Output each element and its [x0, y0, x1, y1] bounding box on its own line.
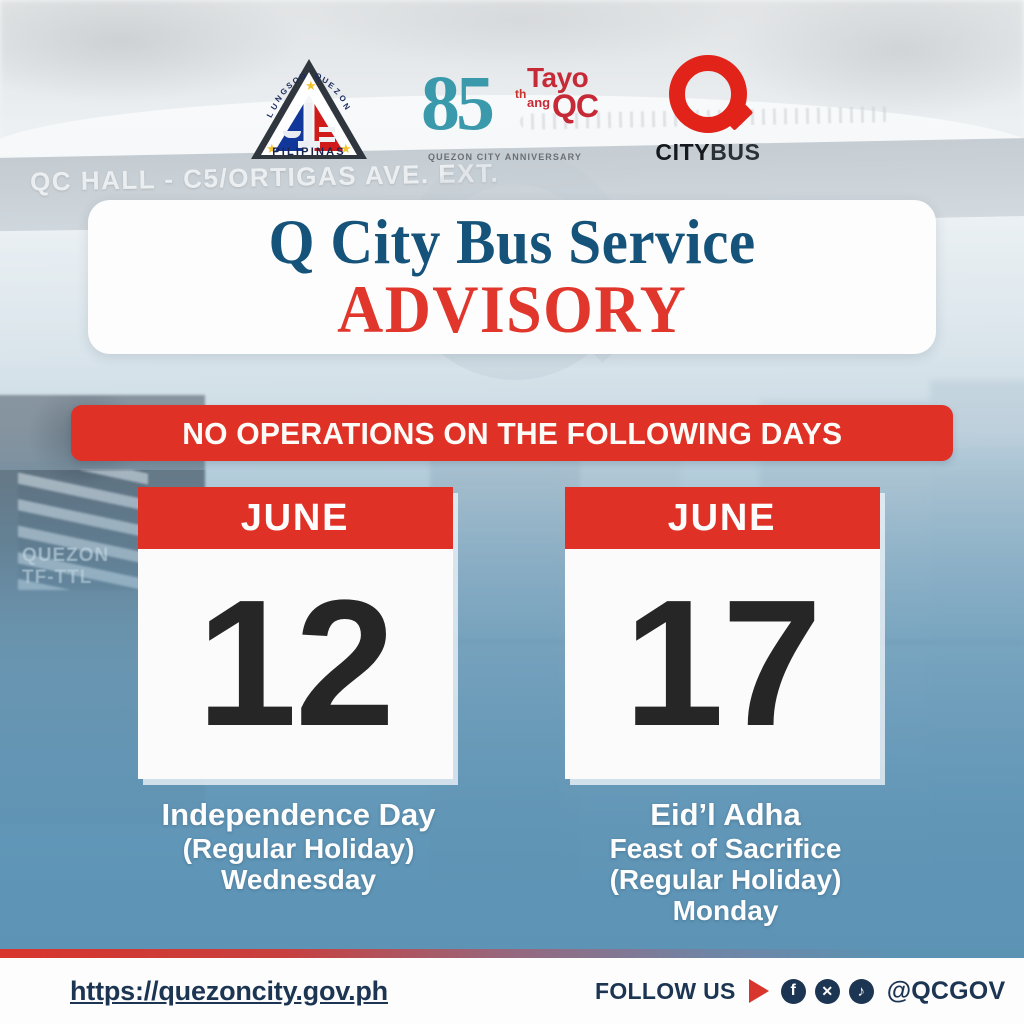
anniversary-tagline-3: QC [552, 90, 598, 122]
calendar-month-header: JUNE [565, 487, 880, 549]
x-twitter-icon[interactable]: ✕ [815, 979, 840, 1004]
anniversary-subtitle: QUEZON CITY ANNIVERSARY [419, 153, 591, 162]
calendar-day-number: 17 [624, 574, 820, 754]
facebook-icon[interactable]: f [781, 979, 806, 1004]
calendar-entry-june-12: JUNE 12 Independence Day (Regular Holida… [138, 487, 460, 927]
citybus-word-city: CITY [655, 139, 710, 165]
no-operations-banner-text: NO OPERATIONS ON THE FOLLOWING DAYS [182, 418, 842, 449]
social-handle: @QCGOV [887, 979, 1006, 1004]
no-operations-banner: NO OPERATIONS ON THE FOLLOWING DAYS [71, 405, 953, 461]
calendar-caption: Eid’l Adha Feast of Sacrifice (Regular H… [565, 798, 887, 927]
holiday-weekday: Wednesday [138, 864, 460, 895]
seal-star-top: ★ [305, 79, 317, 92]
footer-bar: https://quezoncity.gov.ph FOLLOW US f ✕ … [0, 958, 1024, 1024]
calendar-card: JUNE 12 [138, 487, 453, 779]
advisory-poster: QC HALL - C5/ORTIGAS AVE. EXT. QUEZON TF… [0, 0, 1024, 1024]
citybus-wordmark: CITYBUS [643, 141, 773, 164]
page-title: Q City Bus Service [268, 210, 755, 276]
tiktok-icon[interactable]: ♪ [849, 979, 874, 1004]
anniversary-number: 85 [421, 64, 491, 142]
logo-row: L U N G S O D Q U E Z O N ★ ★ ★ PILIPINA… [0, 52, 1024, 170]
anniversary-ordinal: th [515, 88, 526, 100]
holiday-weekday: Monday [565, 895, 887, 926]
calendar-day-body: 17 [565, 549, 880, 779]
anniversary-tagline-2: ang [527, 96, 550, 109]
holiday-name: Independence Day [138, 798, 460, 833]
citybus-logo-icon: CITYBUS [643, 55, 773, 167]
calendar-month-label: JUNE [668, 499, 777, 537]
calendar-caption: Independence Day (Regular Holiday) Wedne… [138, 798, 460, 895]
social-links-group: FOLLOW US f ✕ ♪ @QCGOV [595, 979, 1005, 1004]
page-subtitle: ADVISORY [337, 275, 687, 344]
calendar-month-header: JUNE [138, 487, 453, 549]
follow-us-label: FOLLOW US [595, 980, 736, 1003]
holiday-name: Eid’l Adha [565, 798, 887, 833]
play-arrow-icon [749, 979, 769, 1003]
calendar-card: JUNE 17 [565, 487, 880, 779]
seal-bottom-text: PILIPINAS [251, 147, 367, 158]
quezon-city-seal-icon: L U N G S O D Q U E Z O N ★ ★ ★ PILIPINA… [251, 59, 367, 163]
anniversary-logo-icon: 85 th Tayo ang QC QUEZON CITY ANNIVERSAR… [419, 58, 591, 164]
calendar-month-label: JUNE [241, 499, 350, 537]
calendar-day-number: 12 [197, 574, 393, 754]
holiday-subtitle: Feast of Sacrifice [565, 833, 887, 864]
footer-divider [0, 949, 1024, 958]
holiday-type: (Regular Holiday) [565, 864, 887, 895]
title-card: Q City Bus Service ADVISORY [88, 200, 936, 354]
citybus-word-bus: BUS [710, 139, 760, 165]
calendar-day-body: 12 [138, 549, 453, 779]
calendar-list: JUNE 12 Independence Day (Regular Holida… [0, 487, 1024, 927]
calendar-entry-june-17: JUNE 17 Eid’l Adha Feast of Sacrifice (R… [565, 487, 887, 927]
website-url-link[interactable]: https://quezoncity.gov.ph [70, 978, 388, 1005]
holiday-type: (Regular Holiday) [138, 833, 460, 864]
